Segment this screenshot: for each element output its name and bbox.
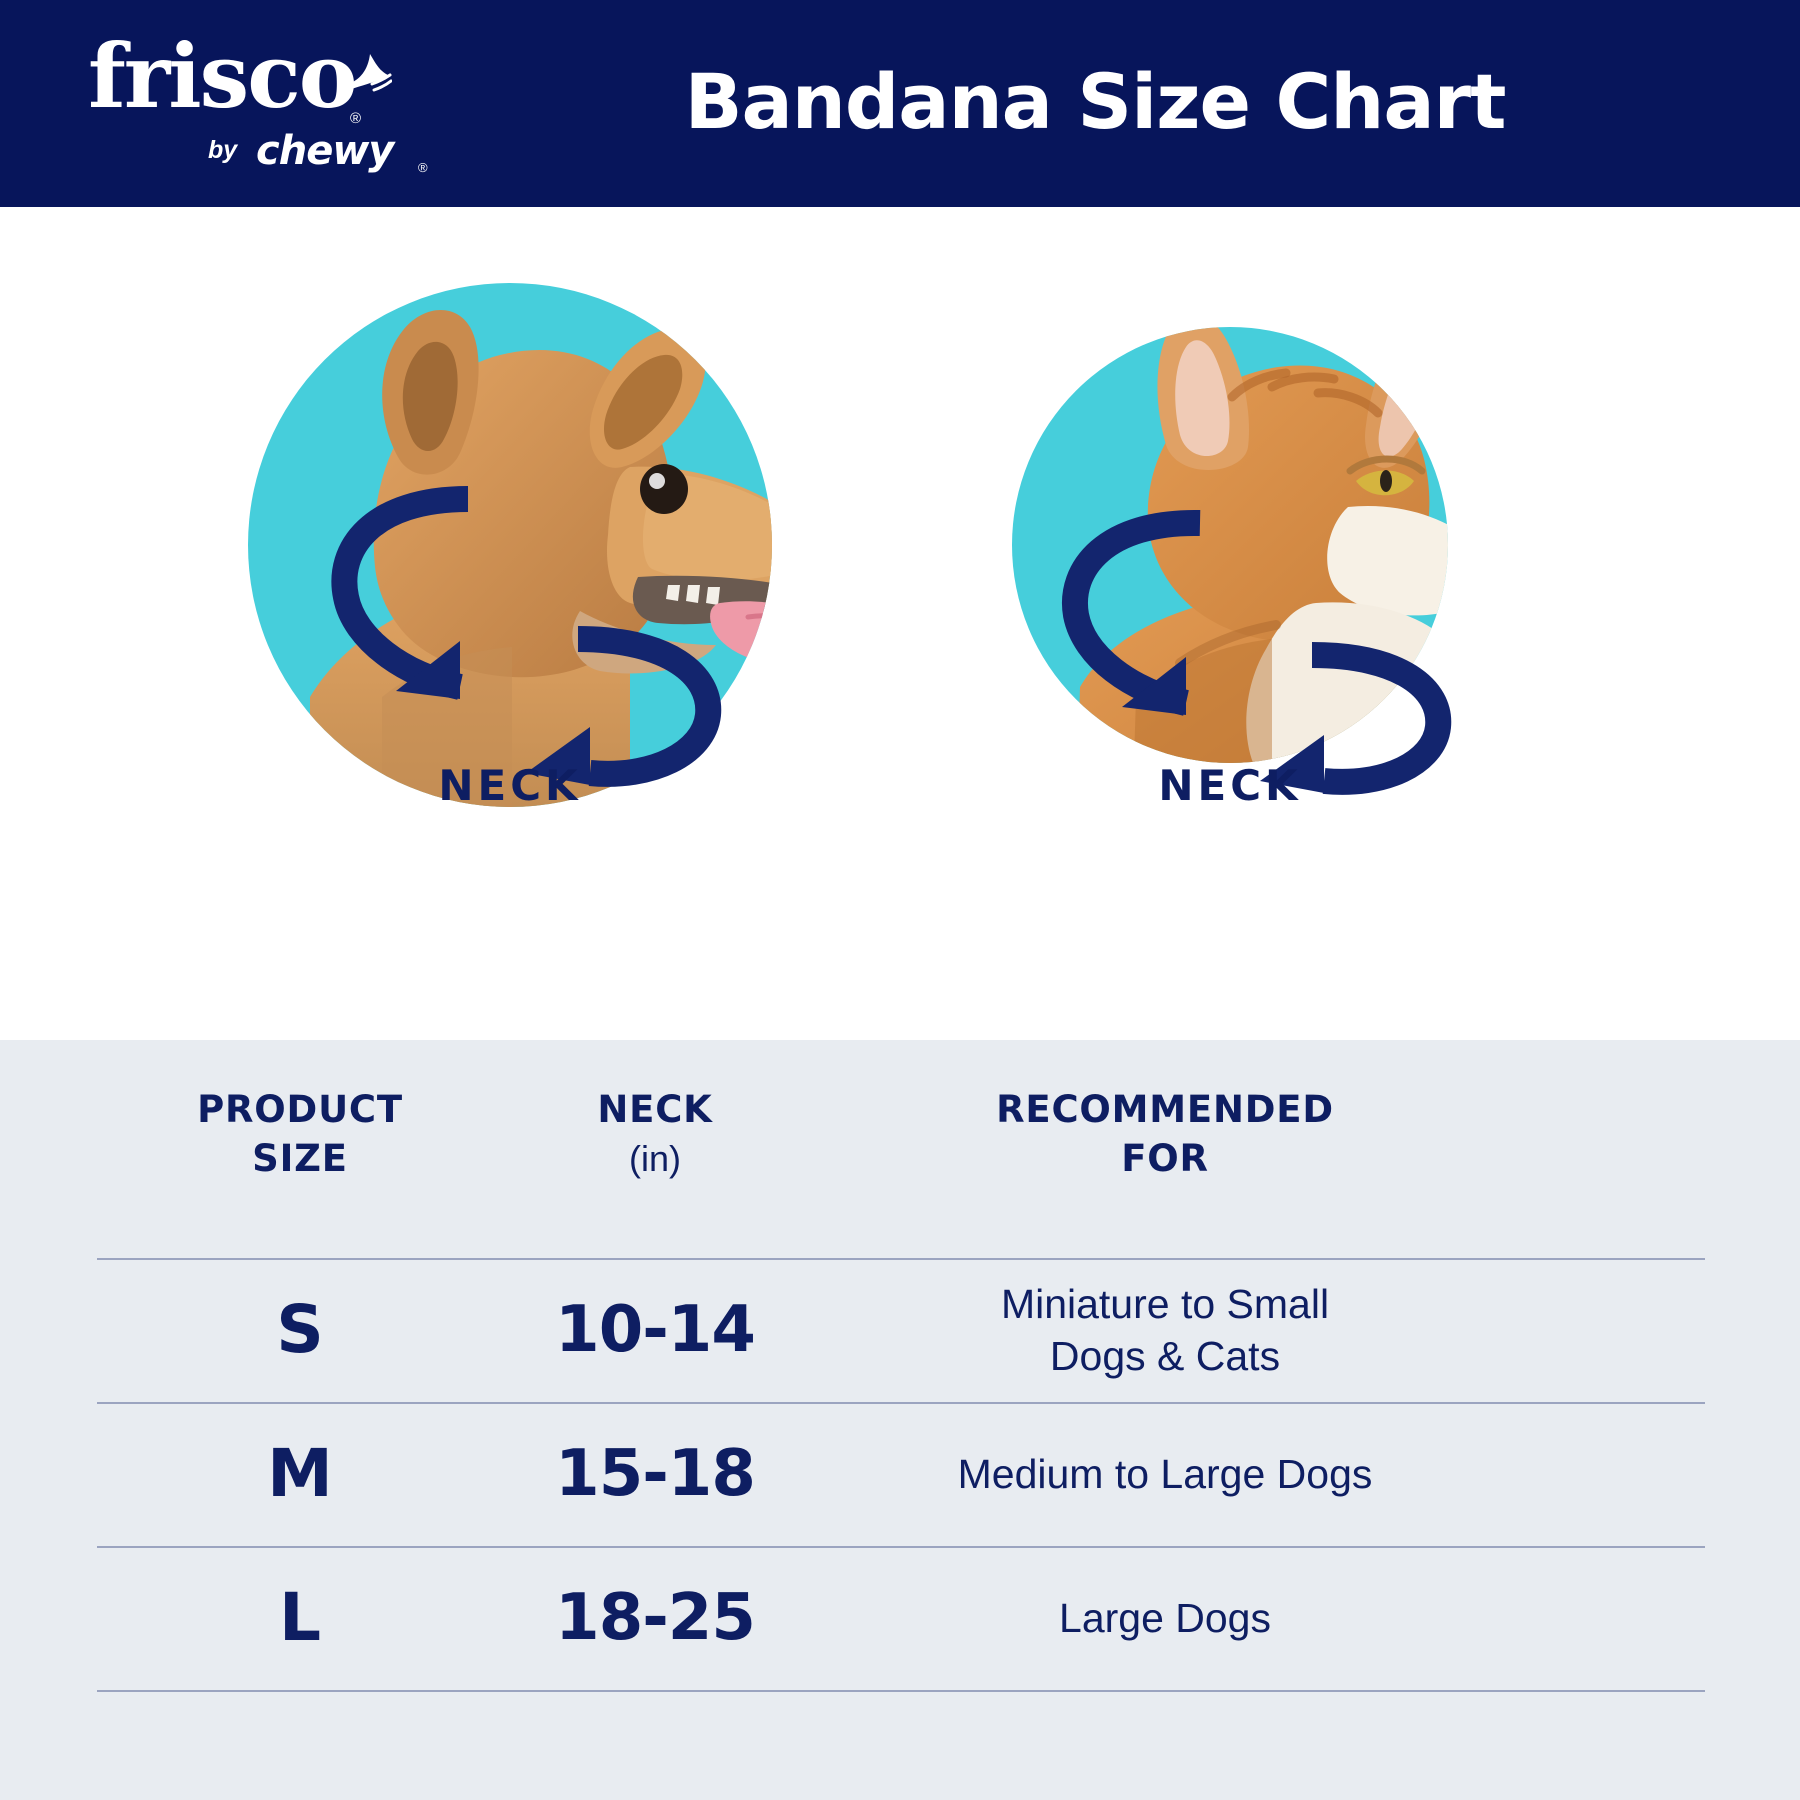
table-divider (97, 1690, 1705, 1692)
size-table: PRODUCT SIZE NECK (in) RECOMMENDED FOR S… (0, 1040, 1800, 1800)
size-chart-page: frisco ® by chewy ® Bandana Size Chart (0, 0, 1800, 1800)
cell-recommended-line1: Large Dogs (1059, 1592, 1271, 1644)
table-row: L 18-25 Large Dogs (0, 1546, 1800, 1690)
cat-neck-label: NECK (880, 761, 1580, 810)
column-header-neck-line1: NECK (597, 1088, 712, 1131)
column-header-neck-unit: (in) (505, 1135, 805, 1183)
frisco-logo: frisco ® by chewy ® (88, 32, 388, 182)
cell-neck-range: 18-25 (505, 1546, 805, 1690)
column-header-neck: NECK (in) (505, 1086, 805, 1182)
illustration-band: NECK (0, 207, 1800, 1040)
cat-measure-illustration: NECK (880, 207, 1580, 1040)
cat-neck-diagram-icon (880, 267, 1580, 827)
table-row: M 15-18 Medium to Large Dogs (0, 1402, 1800, 1546)
table-header-row: PRODUCT SIZE NECK (in) RECOMMENDED FOR (0, 1040, 1800, 1258)
dog-neck-diagram-icon (160, 267, 860, 827)
cell-recommended-line1: Miniature to Small (1001, 1278, 1329, 1330)
cell-recommended-line2: Dogs & Cats (1001, 1330, 1329, 1382)
dog-neck-label: NECK (160, 761, 860, 810)
cell-product-size: L (90, 1546, 510, 1690)
column-header-product-size-line1: PRODUCT (197, 1088, 403, 1131)
cell-recommended-line1: Medium to Large Dogs (958, 1448, 1373, 1500)
column-header-recommended-line2: FOR (1121, 1137, 1209, 1180)
column-header-recommended-line1: RECOMMENDED (996, 1088, 1334, 1131)
cell-product-size: M (90, 1402, 510, 1546)
chewy-wordmark: chewy (256, 128, 393, 174)
cell-neck-range: 15-18 (505, 1402, 805, 1546)
column-header-recommended-for: RECOMMENDED FOR (820, 1086, 1510, 1184)
cell-recommended-for: Miniature to Small Dogs & Cats (820, 1258, 1510, 1402)
table-row: S 10-14 Miniature to Small Dogs & Cats (0, 1258, 1800, 1402)
column-header-product-size: PRODUCT SIZE (90, 1086, 510, 1184)
page-title: Bandana Size Chart (430, 54, 1760, 149)
column-header-product-size-line2: SIZE (252, 1137, 348, 1180)
cell-product-size: S (90, 1258, 510, 1402)
chewy-registered-mark: ® (418, 160, 428, 175)
brand-wordmark: frisco (88, 32, 355, 120)
registered-mark: ® (350, 110, 361, 127)
dog-measure-illustration: NECK (160, 207, 860, 1040)
frisco-swoosh-icon (346, 50, 392, 94)
page-header: frisco ® by chewy ® Bandana Size Chart (0, 0, 1800, 207)
cell-recommended-for: Large Dogs (820, 1546, 1510, 1690)
cell-neck-range: 10-14 (505, 1258, 805, 1402)
byline-prefix: by (208, 136, 237, 165)
cell-recommended-for: Medium to Large Dogs (820, 1402, 1510, 1546)
